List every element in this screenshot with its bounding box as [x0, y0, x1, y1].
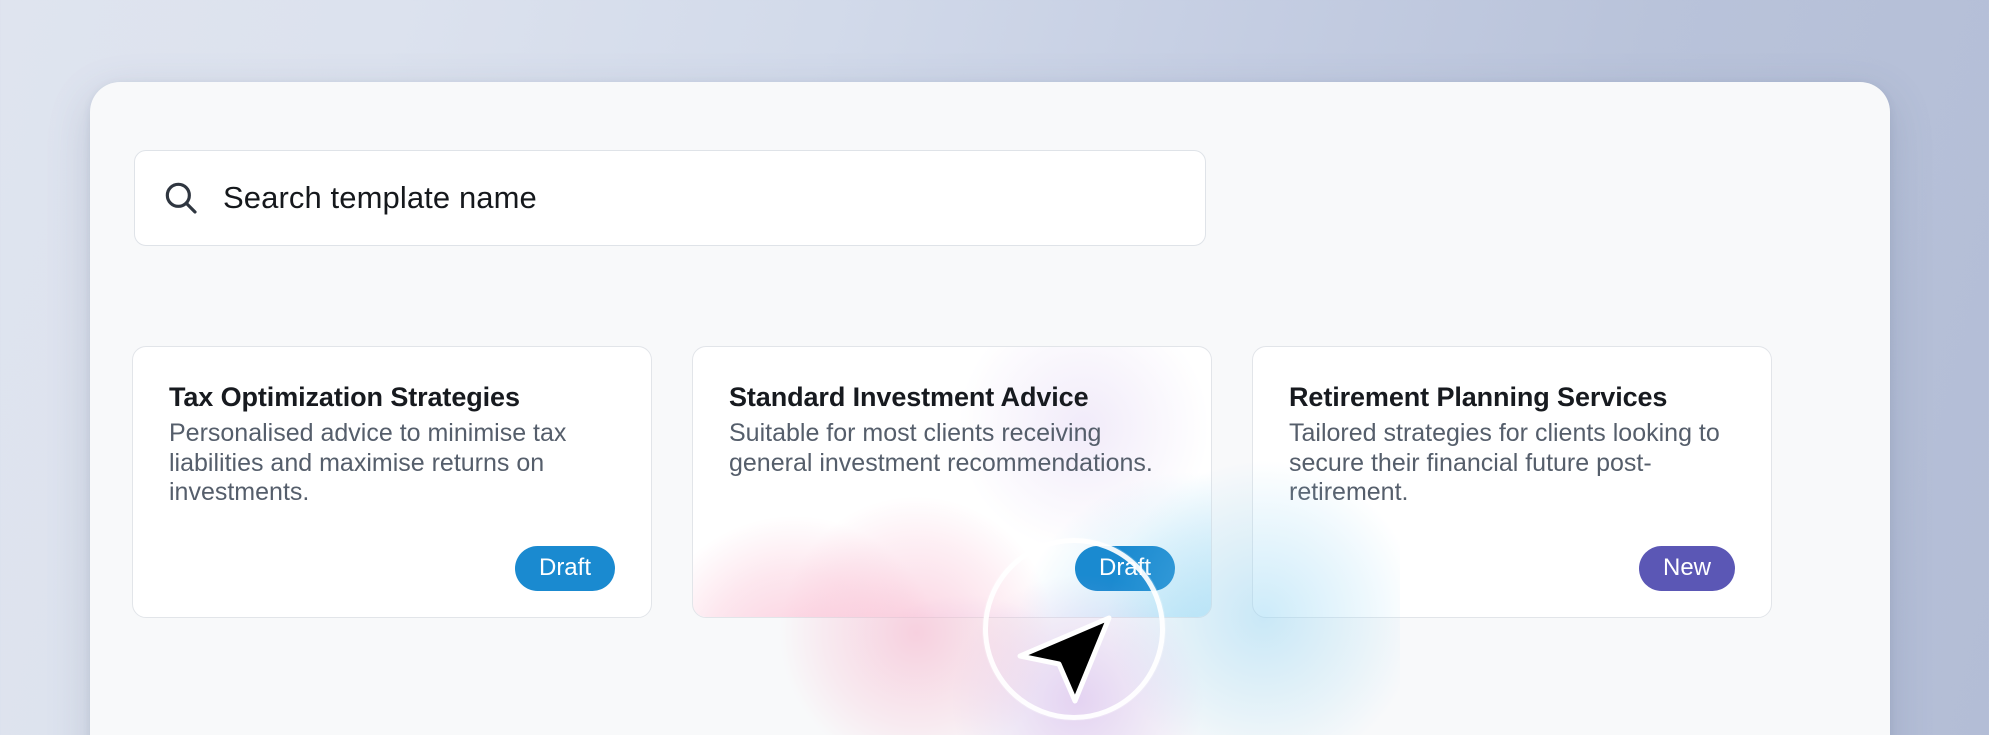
card-description: Suitable for most clients receiving gene… — [729, 419, 1175, 478]
template-card-standard-investment-advice[interactable]: Standard Investment Advice Suitable for … — [692, 346, 1212, 618]
template-card-retirement-planning-services[interactable]: Retirement Planning Services Tailored st… — [1252, 346, 1772, 618]
template-library-panel: Tax Optimization Strategies Personalised… — [90, 82, 1890, 735]
card-description: Personalised advice to minimise tax liab… — [169, 419, 615, 508]
card-title: Standard Investment Advice — [729, 381, 1175, 413]
template-card-tax-optimization-strategies[interactable]: Tax Optimization Strategies Personalised… — [132, 346, 652, 618]
card-title: Tax Optimization Strategies — [169, 381, 615, 413]
search-input[interactable] — [223, 180, 1179, 216]
template-card-grid: Tax Optimization Strategies Personalised… — [132, 346, 1772, 618]
status-badge[interactable]: Draft — [1075, 546, 1175, 591]
search-box[interactable] — [134, 150, 1206, 246]
status-badge[interactable]: Draft — [515, 546, 615, 591]
status-badge[interactable]: New — [1639, 546, 1735, 591]
card-description: Tailored strategies for clients looking … — [1289, 419, 1735, 508]
card-title: Retirement Planning Services — [1289, 381, 1735, 413]
search-row — [134, 150, 1206, 246]
badge-row: Draft — [1075, 546, 1175, 591]
search-icon — [161, 178, 201, 218]
badge-row: New — [1639, 546, 1735, 591]
badge-row: Draft — [515, 546, 615, 591]
